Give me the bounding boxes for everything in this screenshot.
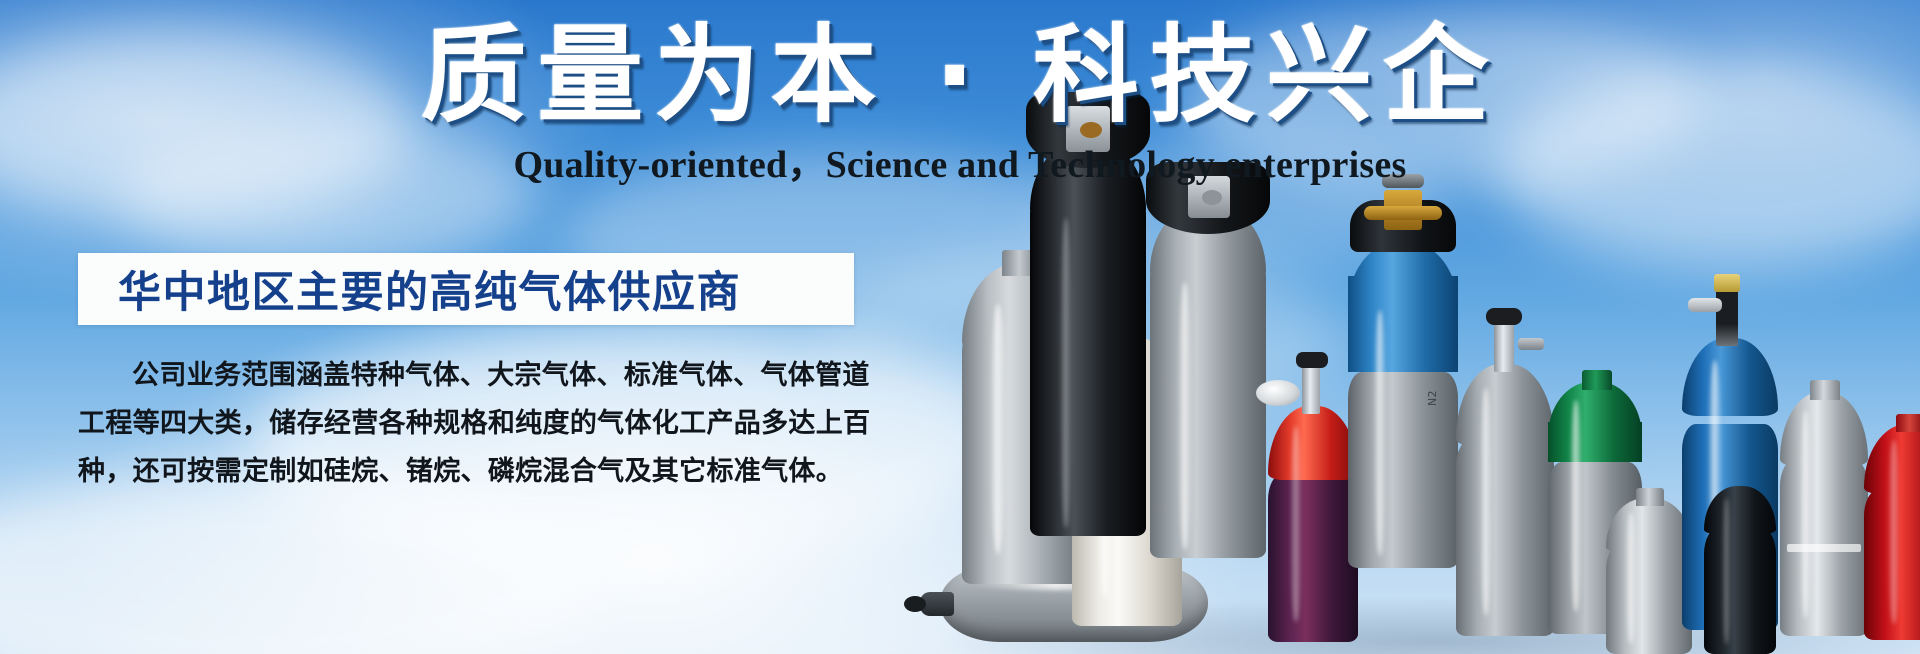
cloud-decoration: [820, 250, 1340, 430]
cloud-decoration: [0, 470, 600, 654]
banner-body-copy: 公司业务范围涵盖特种气体、大宗气体、标准气体、气体管道 工程等四大类，储存经营各…: [78, 352, 868, 496]
cylinder-valve-guard: [1350, 200, 1456, 252]
cylinder-label-strip: [1787, 544, 1861, 552]
cylinder-valve-knob: [1486, 308, 1522, 325]
body-line: 公司业务范围涵盖特种气体、大宗气体、标准气体、气体管道: [78, 352, 868, 400]
promo-banner: 质量为本 · 科技兴企 Quality-oriented，Science and…: [0, 0, 1920, 654]
blue-cylinder: [1682, 338, 1778, 630]
cylinder-label-text: N2: [1426, 390, 1439, 406]
slogan-plate: 华中地区主要的高纯气体供应商: [78, 253, 854, 325]
body-line: 工程等四大类，储存经营各种规格和纯度的气体化工产品多达上百: [78, 400, 868, 448]
slogan-text: 华中地区主要的高纯气体供应商: [78, 258, 741, 320]
banner-subheadline: Quality-oriented，Science and Technology …: [0, 133, 1920, 188]
white-cylinder: [1072, 336, 1182, 626]
grey-cylinder-left: [962, 264, 1080, 584]
banner-headline: 质量为本 · 科技兴企: [0, 16, 1920, 137]
body-line: 种，还可按需定制如硅烷、锗烷、磷烷混合气及其它标准气体。: [78, 448, 868, 496]
cylinder-valve-knob: [1296, 352, 1328, 368]
blue-steel-cylinder: N2: [1348, 194, 1458, 568]
ground-shadow: [930, 596, 1920, 654]
tall-grey-cylinder: [1150, 166, 1266, 558]
